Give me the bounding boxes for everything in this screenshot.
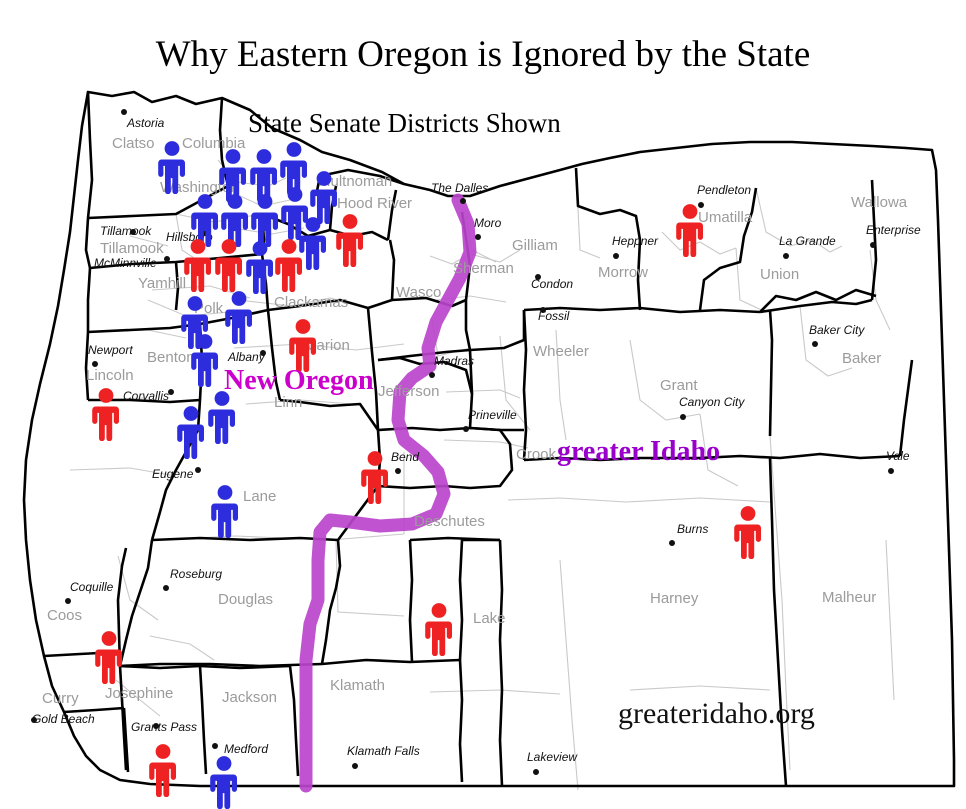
county-label: Clatso xyxy=(112,135,155,152)
senate-district-figure-democrat xyxy=(155,140,189,194)
county-label: Hood River xyxy=(337,195,412,212)
senate-district-figure-republican xyxy=(146,743,180,797)
senate-district-figure-democrat xyxy=(208,484,242,538)
city-label: Eugene xyxy=(152,467,194,481)
city-dot xyxy=(92,361,98,367)
city-label: Newport xyxy=(88,343,133,357)
city-dot xyxy=(783,253,789,259)
city-label: Fossil xyxy=(538,309,570,323)
city-label: Pendleton xyxy=(697,183,751,197)
senate-district-figure-democrat xyxy=(207,755,241,809)
city-label: Coquille xyxy=(70,580,114,594)
senate-district-figure-democrat xyxy=(174,405,208,459)
city-dot xyxy=(212,743,218,749)
county-label: Coos xyxy=(47,607,82,624)
county-label: Crook xyxy=(516,446,557,463)
city-label: Roseburg xyxy=(170,567,222,581)
city-label: Klamath Falls xyxy=(347,744,420,758)
region-label-greater-idaho: greater Idaho xyxy=(557,436,720,468)
county-label: Wheeler xyxy=(533,343,589,360)
senate-district-figure-democrat xyxy=(188,333,222,387)
city-dot xyxy=(888,468,894,474)
city-label: Burns xyxy=(677,522,708,536)
county-label: Clackamas xyxy=(274,294,348,311)
city-label: Enterprise xyxy=(866,223,921,237)
county-label: Wallowa xyxy=(851,194,908,211)
city-dot xyxy=(395,468,401,474)
city-dot xyxy=(164,256,170,262)
senate-district-figure-republican xyxy=(333,213,367,267)
city-dot xyxy=(669,540,675,546)
senate-district-figure-republican xyxy=(422,602,456,656)
county-label: Wasco xyxy=(396,284,441,301)
county-label: Lincoln xyxy=(86,367,134,384)
city-dot xyxy=(613,253,619,259)
county-label: Douglas xyxy=(218,591,273,608)
county-label: Lane xyxy=(243,488,276,505)
county-label: Gilliam xyxy=(512,237,558,254)
county-label: Curry xyxy=(42,690,79,707)
county-label: Grant xyxy=(660,377,698,394)
county-label: Tillamook xyxy=(100,240,164,257)
city-label: Condon xyxy=(531,277,573,291)
city-dot xyxy=(163,585,169,591)
county-label: Lake xyxy=(473,610,506,627)
city-label: Madras xyxy=(434,354,474,368)
senate-district-figure-republican xyxy=(286,318,320,372)
city-dot xyxy=(870,242,876,248)
senate-district-figure-republican xyxy=(358,450,392,504)
city-label: McMinnville xyxy=(94,256,157,270)
county-label: Morrow xyxy=(598,264,648,281)
senate-district-figure-republican xyxy=(92,630,126,684)
city-label: Lakeview xyxy=(527,750,578,764)
county-label: Sherman xyxy=(453,260,514,277)
county-label: Malheur xyxy=(822,589,876,606)
county-label: Jefferson xyxy=(378,383,439,400)
city-dot xyxy=(812,341,818,347)
city-labels: AstoriaHillsboroMcMinnvilleTillamookNewp… xyxy=(31,109,921,775)
senate-district-figure-republican xyxy=(212,238,246,292)
city-dot xyxy=(463,426,469,432)
city-label: Canyon City xyxy=(679,395,745,409)
county-label: Josephine xyxy=(105,685,173,702)
city-label: Tillamook xyxy=(100,224,152,238)
city-label: Moro xyxy=(474,216,502,230)
oregon-map: ClatsoColumbiaWashingtonMultnomahHood Ri… xyxy=(0,0,966,807)
county-borders xyxy=(24,92,954,786)
city-label: Baker City xyxy=(809,323,865,337)
county-label: Klamath xyxy=(330,677,385,694)
city-label: Medford xyxy=(224,742,268,756)
city-label: Vale xyxy=(886,449,910,463)
city-label: Grants Pass xyxy=(131,720,197,734)
city-dot xyxy=(121,109,127,115)
website-brand: greateridaho.org xyxy=(618,697,815,731)
senate-district-figure-democrat xyxy=(205,390,239,444)
city-dot xyxy=(352,763,358,769)
county-label: Harney xyxy=(650,590,699,607)
county-label: Jackson xyxy=(222,689,277,706)
city-label: Gold Beach xyxy=(32,712,95,726)
county-label: Deschutes xyxy=(414,513,485,530)
senate-district-figure-republican xyxy=(181,238,215,292)
city-label: Heppner xyxy=(612,234,659,248)
city-label: Corvallis xyxy=(123,389,169,403)
county-label: Union xyxy=(760,266,799,283)
city-label: Albany xyxy=(227,350,266,364)
senate-district-figure-democrat xyxy=(222,290,256,344)
senate-district-figure-republican xyxy=(272,238,306,292)
county-label: Yamhill xyxy=(138,275,186,292)
map-infographic: Why Eastern Oregon is Ignored by the Sta… xyxy=(0,0,966,807)
city-label: Astoria xyxy=(126,116,165,130)
city-dot xyxy=(475,234,481,240)
city-dot xyxy=(680,414,686,420)
city-label: Prineville xyxy=(468,408,517,422)
city-dot xyxy=(65,598,71,604)
senate-district-figure-republican xyxy=(673,203,707,257)
senate-district-figure-republican xyxy=(89,387,123,441)
city-dot xyxy=(195,467,201,473)
county-label: Baker xyxy=(842,350,881,367)
city-label: Bend xyxy=(391,450,419,464)
city-label: La Grande xyxy=(779,234,836,248)
region-label-new-oregon: New Oregon xyxy=(224,365,374,397)
senate-district-figure-republican xyxy=(731,505,765,559)
city-dot xyxy=(429,372,435,378)
city-dot xyxy=(533,769,539,775)
city-dot xyxy=(460,198,466,204)
city-label: The Dalles xyxy=(431,181,488,195)
